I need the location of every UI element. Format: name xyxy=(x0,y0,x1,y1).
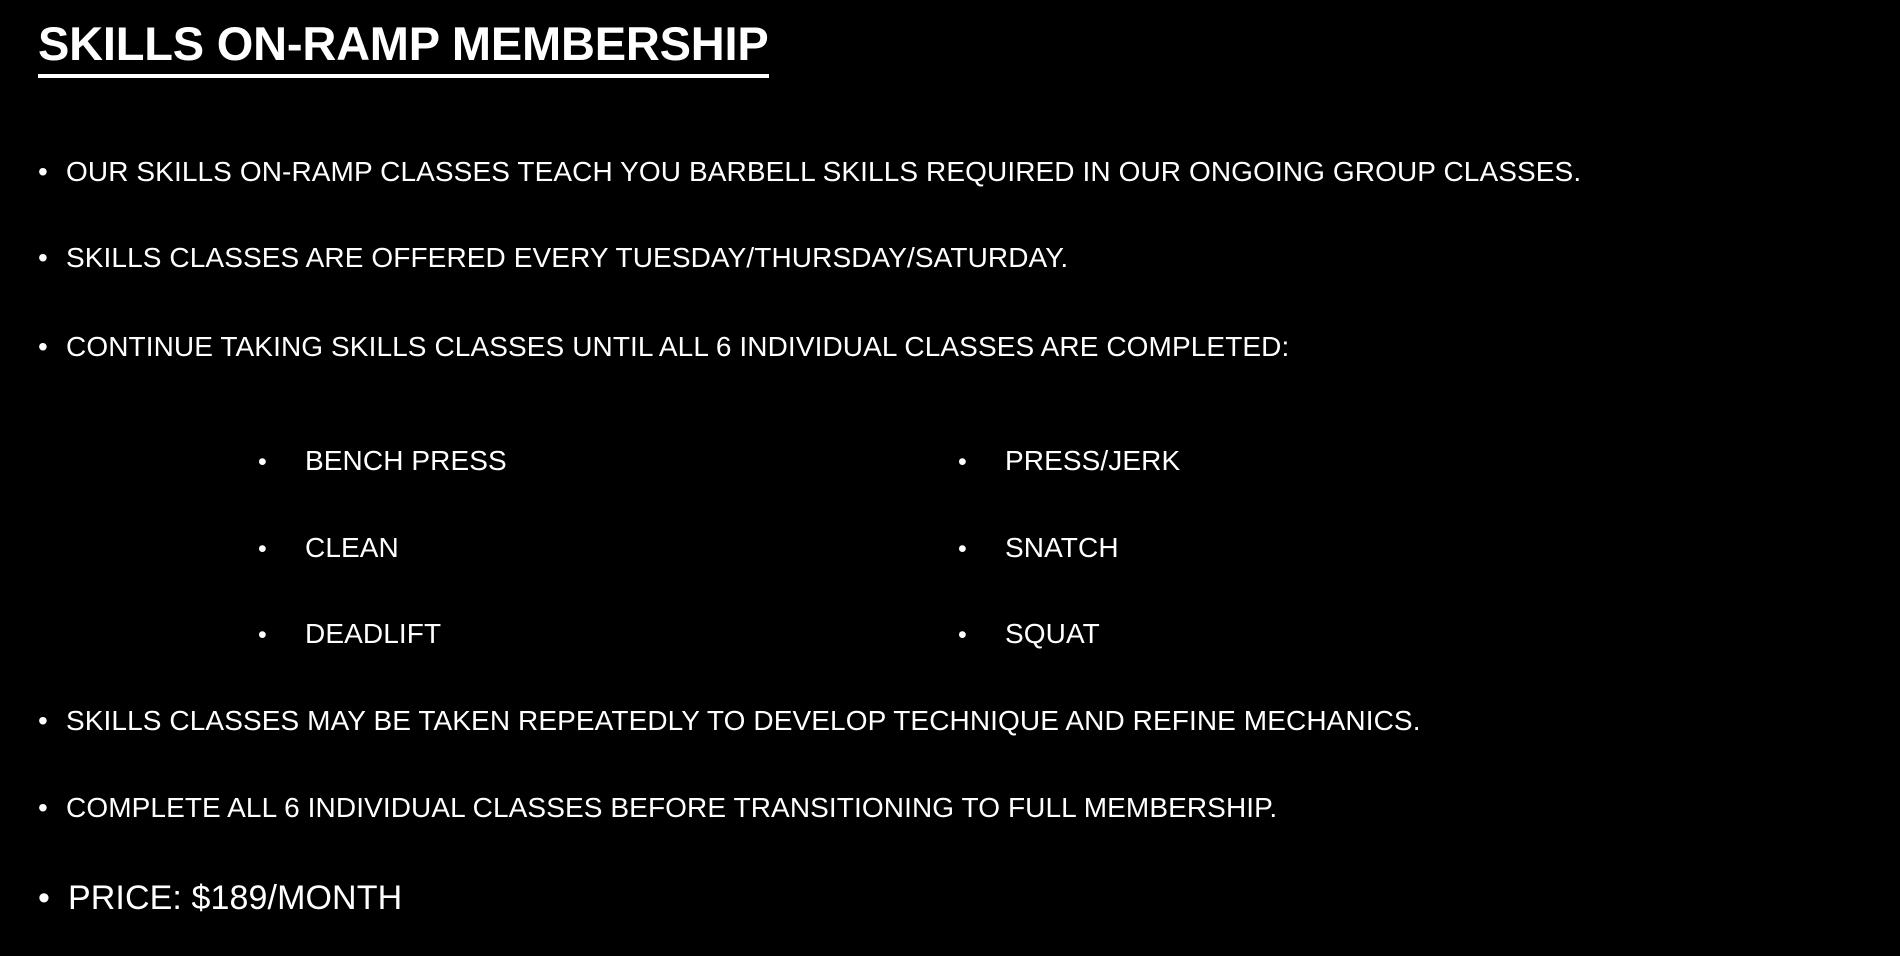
list-item: • COMPLETE ALL 6 INDIVIDUAL CLASSES BEFO… xyxy=(38,791,1277,825)
list-item: • OUR SKILLS ON-RAMP CLASSES TEACH YOU B… xyxy=(38,155,1581,189)
list-item-label: BENCH PRESS xyxy=(305,444,507,478)
slide-canvas: SKILLS ON-RAMP MEMBERSHIP • OUR SKILLS O… xyxy=(0,0,1900,956)
bullet-dot-icon: • xyxy=(258,532,305,566)
bullet-dot-icon: • xyxy=(258,618,305,652)
list-item: • BENCH PRESS xyxy=(258,444,507,479)
list-item: • CONTINUE TAKING SKILLS CLASSES UNTIL A… xyxy=(38,330,1289,364)
list-item-label: SKILLS CLASSES ARE OFFERED EVERY TUESDAY… xyxy=(66,241,1068,275)
list-item: • SKILLS CLASSES MAY BE TAKEN REPEATEDLY… xyxy=(38,704,1421,738)
bullet-dot-icon: • xyxy=(38,330,66,364)
bullet-dot-icon: • xyxy=(258,445,305,479)
list-item-label: SNATCH xyxy=(1005,531,1119,565)
bullet-dot-icon: • xyxy=(958,445,1005,479)
page-title: SKILLS ON-RAMP MEMBERSHIP xyxy=(38,18,769,78)
price-label: PRICE: $189/MONTH xyxy=(68,877,402,919)
list-item-label: OUR SKILLS ON-RAMP CLASSES TEACH YOU BAR… xyxy=(66,155,1581,189)
bullet-dot-icon: • xyxy=(958,532,1005,566)
list-item-label: CONTINUE TAKING SKILLS CLASSES UNTIL ALL… xyxy=(66,330,1289,364)
bullet-dot-icon: • xyxy=(38,791,66,825)
price-list-item: • PRICE: $189/MONTH xyxy=(38,877,402,919)
list-item-label: PRESS/JERK xyxy=(1005,444,1180,478)
list-item: • SKILLS CLASSES ARE OFFERED EVERY TUESD… xyxy=(38,241,1068,275)
list-item-label: SQUAT xyxy=(1005,617,1100,651)
bullet-dot-icon: • xyxy=(38,704,66,738)
list-item: • CLEAN xyxy=(258,531,399,566)
bullet-dot-icon: • xyxy=(38,241,66,275)
list-item-label: SKILLS CLASSES MAY BE TAKEN REPEATEDLY T… xyxy=(66,704,1421,738)
bullet-dot-icon: • xyxy=(958,618,1005,652)
list-item: • SNATCH xyxy=(958,531,1119,566)
bullet-dot-icon: • xyxy=(38,877,68,919)
list-item: • PRESS/JERK xyxy=(958,444,1180,479)
list-item: • SQUAT xyxy=(958,617,1100,652)
list-item-label: DEADLIFT xyxy=(305,617,441,651)
bullet-dot-icon: • xyxy=(38,155,66,189)
list-item: • DEADLIFT xyxy=(258,617,441,652)
list-item-label: CLEAN xyxy=(305,531,399,565)
list-item-label: COMPLETE ALL 6 INDIVIDUAL CLASSES BEFORE… xyxy=(66,791,1277,825)
